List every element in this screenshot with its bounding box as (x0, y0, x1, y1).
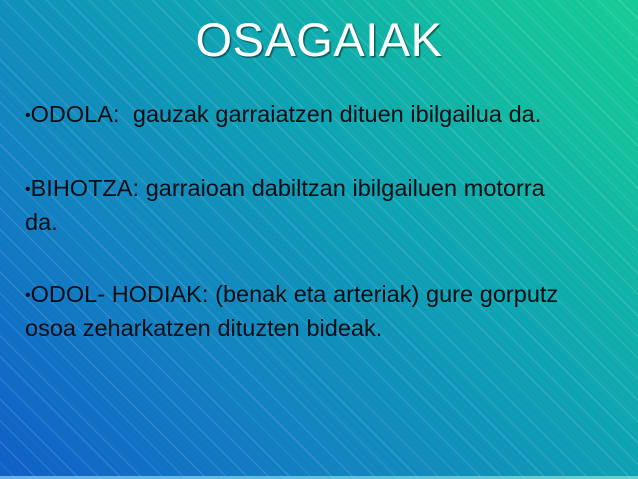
bullet-text: BIHOTZA: garraioan dabiltzan ibilgailuen… (25, 175, 551, 235)
bullet-text: ODOLA: gauzak garraiatzen dituen ibilgai… (31, 101, 542, 127)
slide-title: OSAGAIAK (0, 12, 638, 68)
slide-body: •ODOLA: gauzak garraiatzen dituen ibilga… (25, 98, 577, 344)
bullet-item: •ODOLA: gauzak garraiatzen dituen ibilga… (25, 98, 577, 132)
bullet-item: •ODOL- HODIAK: (benak eta arteriak) gure… (25, 278, 577, 344)
bullet-item: •BIHOTZA: garraioan dabiltzan ibilgailue… (25, 172, 577, 238)
presentation-slide: OSAGAIAK •ODOLA: gauzak garraiatzen ditu… (0, 0, 638, 479)
bullet-text: ODOL- HODIAK: (benak eta arteriak) gure … (25, 281, 565, 341)
